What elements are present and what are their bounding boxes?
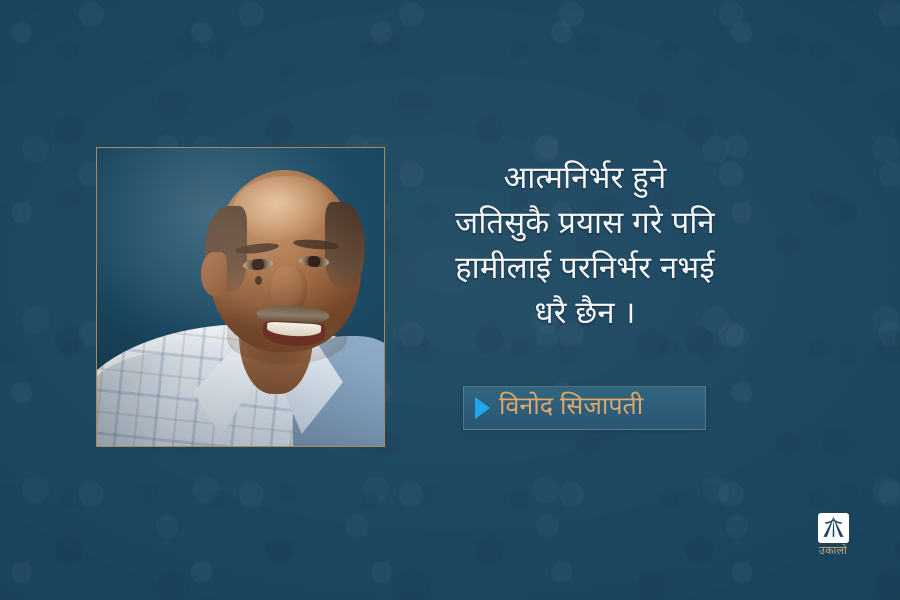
quote-line: आत्मनिर्भर हुने bbox=[420, 155, 750, 200]
portrait-frame bbox=[96, 147, 385, 447]
quote-text-block: आत्मनिर्भर हुने जतिसुकै प्रयास गरे पनि ह… bbox=[420, 155, 750, 335]
logo-caption: उकालो bbox=[811, 545, 855, 558]
quote-line: धरै छैन । bbox=[420, 290, 750, 335]
quote-line: जतिसुकै प्रयास गरे पनि bbox=[420, 200, 750, 245]
portrait-photo bbox=[97, 148, 384, 446]
ukalo-uphill-road-mark-icon bbox=[818, 513, 849, 543]
brand-logo: उकालो bbox=[811, 513, 855, 558]
quote-graphic-card: आत्मनिर्भर हुने जतिसुकै प्रयास गरे पनि ह… bbox=[0, 0, 900, 600]
portrait-lighting-overlay bbox=[97, 148, 384, 446]
triangle-right-icon bbox=[475, 397, 490, 419]
attribution-band: विनोद सिजापती bbox=[463, 386, 706, 430]
author-name: विनोद सिजापती bbox=[499, 394, 643, 422]
quote-line: हामीलाई परनिर्भर नभई bbox=[420, 245, 750, 290]
